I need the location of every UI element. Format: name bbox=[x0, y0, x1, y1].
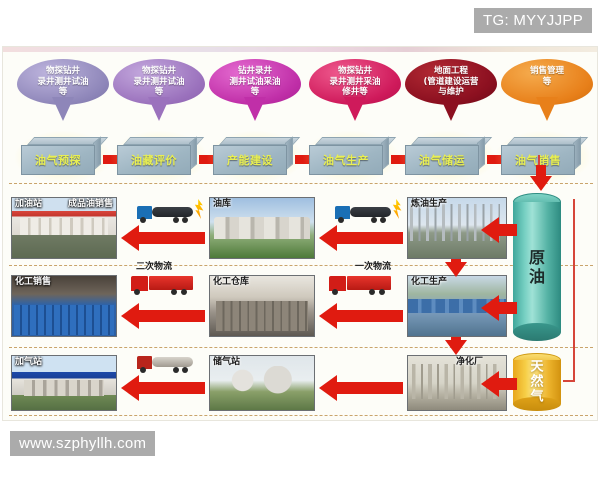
bubble-3-stem bbox=[344, 97, 366, 121]
chemplant-to-gasrow-arrow bbox=[445, 337, 467, 355]
bubble-3: 物探钻井 录井测井采油 修井等 bbox=[309, 59, 401, 129]
cng-station-caption: 加气站 bbox=[15, 357, 42, 368]
bubble-3-line3: 修井等 bbox=[309, 87, 401, 98]
bubble-4-line2: (管道建设运营 bbox=[405, 77, 497, 88]
separator-top bbox=[9, 183, 593, 184]
gas-storage-caption: 储气站 bbox=[213, 357, 240, 368]
bubble-0-stem bbox=[52, 97, 74, 121]
row1-truck-2-wheel-1 bbox=[338, 217, 344, 223]
row1-arrow-depot-to-station bbox=[121, 225, 205, 251]
refinery-to-chemplant-head bbox=[445, 262, 467, 277]
natural-gas-char-2: 然 bbox=[513, 375, 561, 390]
row3-arrow-purify-to-storage bbox=[319, 375, 403, 401]
chain-box-2-label: 产能建设 bbox=[227, 152, 273, 168]
chain-box-2[interactable]: 产能建设 bbox=[213, 137, 293, 177]
row3-truck-wheel-1 bbox=[140, 367, 146, 373]
chemical-sales-caption: 化工销售 bbox=[15, 277, 51, 288]
row2-truck-1-cab bbox=[131, 276, 148, 291]
row1-truck-1-tank bbox=[152, 207, 193, 217]
cng-station-photo[interactable]: 加气站 bbox=[11, 355, 117, 411]
purification-plant-caption: 净化厂 bbox=[456, 357, 483, 368]
row2-arrow-warehouse-to-sales bbox=[121, 303, 205, 329]
row2-truck-1-wheel-1 bbox=[134, 289, 140, 295]
row1-flame-icon-2 bbox=[391, 199, 404, 219]
row3-arrow-2-shaft bbox=[336, 382, 403, 394]
natural-gas-char-3: 气 bbox=[513, 390, 561, 405]
chemical-plant-caption: 化工生产 bbox=[411, 277, 447, 288]
chain-box-4-label: 油气储运 bbox=[419, 152, 465, 168]
chain-box-3-label: 油气生产 bbox=[323, 152, 369, 168]
bubble-2-line1: 钻井录井 bbox=[209, 66, 301, 77]
bubble-4-text: 地面工程 (管道建设运营 与维护 bbox=[405, 66, 497, 98]
bubble-2-text: 钻井录井 测井试油采油 等 bbox=[209, 66, 301, 98]
row3-arrow-3-head bbox=[481, 371, 499, 397]
bubble-0: 物探钻井 录井测井试油 等 bbox=[17, 59, 109, 129]
bubble-1-line1: 物探钻井 bbox=[113, 66, 205, 77]
row2-arrow-3-head bbox=[481, 295, 499, 321]
bubble-3-line2: 录井测井采油 bbox=[309, 77, 401, 88]
row1-arrow-1-head bbox=[121, 225, 139, 251]
separator-chem-gas bbox=[9, 347, 593, 348]
screenshot-root: TG: MYYJJPP www.szphyllh.com 物探钻井 录井测井试油… bbox=[0, 0, 600, 480]
row1-arrow-1-shaft bbox=[138, 232, 205, 244]
value-chain-row: 油气预探 油藏评价 bbox=[3, 129, 599, 181]
chain-box-3-face: 油气生产 bbox=[309, 145, 383, 175]
row2-truck-2-box bbox=[347, 276, 391, 290]
row3-arrow-2-head bbox=[319, 375, 337, 401]
crude-feed-arrow-head bbox=[530, 176, 552, 191]
watermark-bottom-left: www.szphyllh.com bbox=[10, 431, 155, 456]
downstream-flow-area: 原 油 天 然 气 加油站 成品油销售 bbox=[3, 187, 599, 419]
row2-primary-logistics-label: 一次物流 bbox=[355, 259, 391, 272]
bubble-1: 物探钻井 录井测井试油 等 bbox=[113, 59, 205, 129]
row3-truck-wheel-2 bbox=[173, 367, 179, 373]
bubble-3-text: 物探钻井 录井测井采油 修井等 bbox=[309, 66, 401, 98]
bubble-0-line1: 物探钻井 bbox=[17, 66, 109, 77]
oil-depot-photo[interactable]: 油库 bbox=[209, 197, 315, 259]
bubble-2: 钻井录井 测井试油采油 等 bbox=[209, 59, 301, 129]
separator-bottom bbox=[9, 415, 593, 416]
bubble-5-stem bbox=[536, 97, 558, 121]
oil-depot-caption: 油库 bbox=[213, 199, 231, 210]
row1-truck-2-tank bbox=[350, 207, 391, 217]
bubble-1-line3: 等 bbox=[113, 87, 205, 98]
bubble-2-line2: 测井试油采油 bbox=[209, 77, 301, 88]
row1-truck-1-wheel-2 bbox=[173, 217, 179, 223]
bubble-0-text: 物探钻井 录井测井试油 等 bbox=[17, 66, 109, 98]
row1-flame-icon-1 bbox=[193, 199, 206, 219]
process-bubbles-row: 物探钻井 录井测井试油 等 物探钻井 录井测井试油 等 钻井录井 bbox=[3, 59, 599, 131]
chain-box-1-label: 油藏评价 bbox=[131, 152, 177, 168]
row3-arrow-1-head bbox=[121, 375, 139, 401]
diagram-canvas: 物探钻井 录井测井试油 等 物探钻井 录井测井试油 等 钻井录井 bbox=[2, 46, 598, 421]
bubble-5-line2: 等 bbox=[501, 77, 593, 88]
row2-arrow-1-shaft bbox=[138, 310, 205, 322]
gas-station-caption-2: 成品油销售 bbox=[68, 199, 113, 210]
bubble-5: 销售管理 等 bbox=[501, 59, 593, 129]
row1-tanker-truck-secondary bbox=[137, 203, 193, 223]
gas-station-caption: 加油站 bbox=[15, 199, 42, 210]
natural-gas-cylinder-label: 天 然 气 bbox=[513, 360, 561, 405]
row2-box-truck-primary bbox=[329, 273, 391, 295]
watermark-top-right: TG: MYYJJPP bbox=[474, 8, 592, 33]
bubble-4-stem bbox=[440, 97, 462, 121]
chain-box-3[interactable]: 油气生产 bbox=[309, 137, 389, 177]
row2-truck-2-wheel-2 bbox=[369, 289, 375, 295]
chain-box-2-face: 产能建设 bbox=[213, 145, 287, 175]
bubble-1-text: 物探钻井 录井测井试油 等 bbox=[113, 66, 205, 98]
chain-box-1-face: 油藏评价 bbox=[117, 145, 191, 175]
row1-arrow-3-head bbox=[481, 217, 499, 243]
bubble-0-line3: 等 bbox=[17, 87, 109, 98]
chain-box-4[interactable]: 油气储运 bbox=[405, 137, 485, 177]
crude-oil-cylinder-label: 原 油 bbox=[513, 248, 561, 286]
chain-box-4-face: 油气储运 bbox=[405, 145, 479, 175]
crude-oil-cylinder-bottom bbox=[513, 323, 561, 341]
natural-gas-cylinder: 天 然 气 bbox=[513, 353, 561, 411]
chain-box-0-face: 油气预探 bbox=[21, 145, 95, 175]
row2-truck-1-box bbox=[149, 276, 193, 290]
refinery-caption: 炼油生产 bbox=[411, 199, 447, 210]
bubble-1-line2: 录井测井试油 bbox=[113, 77, 205, 88]
gas-storage-photo[interactable]: 储气站 bbox=[209, 355, 315, 411]
row1-truck-2-wheel-3 bbox=[380, 217, 386, 223]
row2-secondary-logistics-label: 二次物流 bbox=[136, 259, 172, 272]
row3-truck-tank bbox=[152, 357, 193, 367]
row1-arrow-3-shaft bbox=[498, 224, 517, 236]
row1-truck-1-wheel-1 bbox=[140, 217, 146, 223]
gas-feed-line-horizontal bbox=[563, 380, 575, 382]
bubble-4-line3: 与维护 bbox=[405, 87, 497, 98]
chemical-warehouse-caption: 化工仓库 bbox=[213, 277, 249, 288]
crude-oil-char-2: 油 bbox=[513, 267, 561, 286]
bubble-5-line1: 销售管理 bbox=[501, 66, 593, 77]
separator-oil-chem bbox=[9, 265, 593, 266]
natural-gas-char-1: 天 bbox=[513, 360, 561, 375]
row3-arrow-1-shaft bbox=[138, 382, 205, 394]
row1-truck-2-wheel-2 bbox=[371, 217, 377, 223]
gas-station-photo[interactable]: 加油站 成品油销售 bbox=[11, 197, 117, 259]
row2-truck-1-wheel-3 bbox=[181, 289, 187, 295]
row2-arrow-crude-to-plant bbox=[481, 295, 517, 321]
bubble-2-stem bbox=[244, 97, 266, 121]
chemical-sales-photo[interactable]: 化工销售 bbox=[11, 275, 117, 337]
bubble-5-text: 销售管理 等 bbox=[501, 66, 593, 87]
crude-feed-arrow bbox=[530, 165, 552, 191]
row1-arrow-crude-to-refinery bbox=[481, 217, 517, 243]
bubble-0-line2: 录井测井试油 bbox=[17, 77, 109, 88]
row3-arrow-storage-to-station bbox=[121, 375, 205, 401]
bubble-4-line1: 地面工程 bbox=[405, 66, 497, 77]
row2-arrow-plant-to-warehouse bbox=[319, 303, 403, 329]
row2-truck-2-wheel-3 bbox=[379, 289, 385, 295]
bubble-2-line3: 等 bbox=[209, 87, 301, 98]
row3-tanker-truck bbox=[137, 353, 193, 373]
bubble-4: 地面工程 (管道建设运营 与维护 bbox=[405, 59, 497, 129]
row3-truck-wheel-3 bbox=[182, 367, 188, 373]
row1-arrow-refinery-to-depot bbox=[319, 225, 403, 251]
row2-arrow-3-shaft bbox=[498, 302, 517, 314]
row1-arrow-2-shaft bbox=[336, 232, 403, 244]
row2-box-truck-secondary bbox=[131, 273, 193, 295]
crude-oil-char-1: 原 bbox=[513, 248, 561, 267]
canvas-top-gradient-bar bbox=[3, 47, 597, 52]
chemical-warehouse-photo[interactable]: 化工仓库 bbox=[209, 275, 315, 337]
refinery-to-chemplant-arrow bbox=[445, 259, 467, 277]
row2-truck-2-wheel-1 bbox=[332, 289, 338, 295]
crude-oil-cylinder: 原 油 bbox=[513, 193, 561, 341]
row2-arrow-1-head bbox=[121, 303, 139, 329]
chain-box-0-label: 油气预探 bbox=[35, 152, 81, 168]
chain-box-0[interactable]: 油气预探 bbox=[21, 137, 101, 177]
bubble-1-stem bbox=[148, 97, 170, 121]
bubble-3-line1: 物探钻井 bbox=[309, 66, 401, 77]
row1-tanker-truck-primary bbox=[335, 203, 391, 223]
row1-arrow-2-head bbox=[319, 225, 337, 251]
row3-arrow-gas-to-purify bbox=[481, 371, 517, 397]
chemplant-to-gasrow-head bbox=[445, 340, 467, 355]
row2-arrow-2-head bbox=[319, 303, 337, 329]
row2-arrow-2-shaft bbox=[336, 310, 403, 322]
row2-truck-1-wheel-2 bbox=[171, 289, 177, 295]
gas-feed-line-vertical bbox=[573, 199, 575, 381]
chain-box-1[interactable]: 油藏评价 bbox=[117, 137, 197, 177]
row2-truck-2-cab bbox=[329, 276, 346, 291]
row1-truck-1-wheel-3 bbox=[182, 217, 188, 223]
